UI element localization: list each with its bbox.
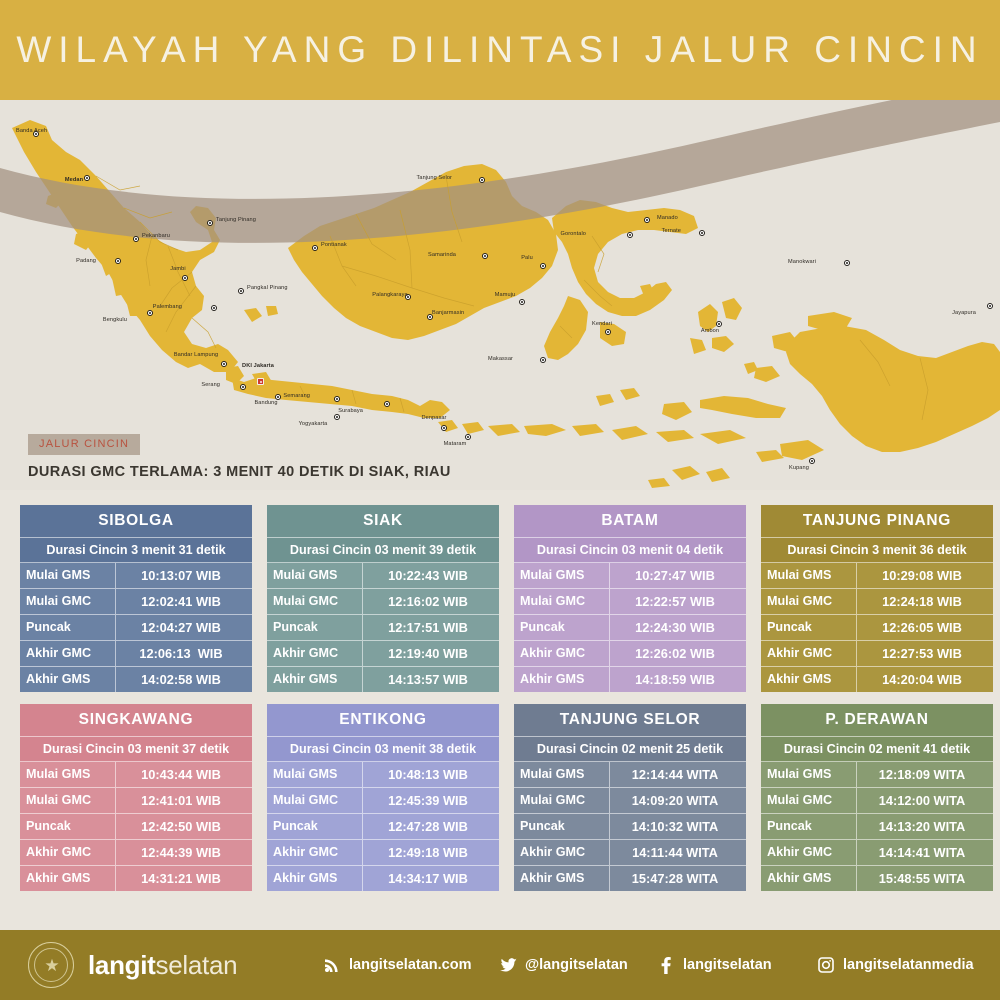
map-label-bengkulu: Bengkulu [103,317,127,323]
card-row-label: Akhir GMS [761,866,857,891]
map-label-surabaya: Surabaya [338,408,363,414]
map-label-pangkal-pinang: Pangkal Pinang [247,285,288,291]
card-row: Puncak12:17:51 WIB [267,615,499,641]
map-marker-jambi [182,275,188,281]
card-row-value: 14:12:00 WITA [857,788,993,813]
map-label-gorontalo: Gorontalo [561,231,586,237]
infographic-page: WILAYAH YANG DILINTASI JALUR CINCIN [0,0,1000,1000]
card-row-label: Puncak [267,814,363,839]
map-marker-surabaya [384,401,390,407]
card-row-label: Akhir GMS [267,866,363,891]
card-row: Puncak14:13:20 WITA [761,814,993,840]
card-row: Puncak12:26:05 WIB [761,615,993,641]
card-row: Mulai GMS12:18:09 WITA [761,762,993,788]
card-row: Akhir GMC12:26:02 WIB [514,641,746,667]
map-label-kupang: Kupang [789,465,809,471]
map-label-bandar-lampung: Bandar Lampung [174,352,218,358]
card-row: Mulai GMC12:22:57 WIB [514,589,746,615]
card-row: Akhir GMC14:14:41 WITA [761,840,993,866]
card-row-value: 12:26:05 WIB [857,615,993,640]
card-row: Akhir GMS14:31:21 WIB [20,866,252,891]
footer-link-twitter[interactable]: @langitselatan [498,955,628,975]
card-row: Mulai GMC12:02:41 WIB [20,589,252,615]
card-row: Akhir GMS14:13:57 WIB [267,667,499,692]
card-row-value: 15:48:55 WITA [857,866,993,891]
card-row-value: 12:24:18 WIB [857,589,993,614]
map-marker-tanjung-selor [479,177,485,183]
map-marker-gorontalo [627,232,633,238]
timing-card-batam: BATAMDurasi Cincin 03 menit 04 detikMula… [514,505,746,692]
card-row: Mulai GMC12:41:01 WIB [20,788,252,814]
timing-card-siak: SIAKDurasi Cincin 03 menit 39 detikMulai… [267,505,499,692]
card-row-label: Akhir GMC [20,641,116,666]
card-row-value: 14:09:20 WITA [610,788,746,813]
footer-link-instagram[interactable]: langitselatanmedia [816,955,974,975]
card-row-value: 10:13:07 WIB [116,563,252,588]
map-marker-medan [84,175,90,181]
card-row: Akhir GMS15:48:55 WITA [761,866,993,891]
card-row-label: Mulai GMS [761,762,857,787]
card-row: Puncak14:10:32 WITA [514,814,746,840]
card-row-value: 10:43:44 WIB [116,762,252,787]
card-duration-entikong: Durasi Cincin 03 menit 38 detik [267,737,499,762]
map-label-palembang: Palembang [153,304,182,310]
map-label-palu: Palu [521,255,533,261]
map-label-banjarmasin: Banjarmasin [432,310,464,316]
card-duration-batam: Durasi Cincin 03 menit 04 detik [514,538,746,563]
legend-jalur-cincin: JALUR CINCIN [28,434,140,455]
instagram-icon [816,955,836,975]
map-marker-semarang [334,396,340,402]
timing-card-tanjung-pinang: TANJUNG PINANGDurasi Cincin 3 menit 36 d… [761,505,993,692]
map-label-palangkaraya: Palangkaraya [372,292,407,298]
card-row: Akhir GMS14:20:04 WIB [761,667,993,692]
card-row: Mulai GMS10:13:07 WIB [20,563,252,589]
eclipse-path-band [0,100,1000,243]
footer-link-instagram-label: langitselatanmedia [843,957,974,973]
card-row-value: 14:11:44 WITA [610,840,746,865]
map-label-padang: Padang [76,258,96,264]
map-marker-manado [644,217,650,223]
card-row-value: 12:42:50 WIB [116,814,252,839]
timing-card-singkawang: SINGKAWANGDurasi Cincin 03 menit 37 deti… [20,704,252,891]
card-row: Akhir GMS14:34:17 WIB [267,866,499,891]
card-row-label: Akhir GMC [20,840,116,865]
map-marker-pontianak [312,245,318,251]
map-label-denpasar: Denpasar [421,415,446,421]
card-row-value: 15:47:28 WITA [610,866,746,891]
card-row-value: 12:22:57 WIB [610,589,746,614]
card-row-value: 14:13:20 WITA [857,814,993,839]
card-row-value: 12:06:13 WIB [116,641,252,666]
card-duration-p-derawan: Durasi Cincin 02 menit 41 detik [761,737,993,762]
card-duration-siak: Durasi Cincin 03 menit 39 detik [267,538,499,563]
card-row: Mulai GMS12:14:44 WITA [514,762,746,788]
card-title-sibolga: SIBOLGA [20,505,252,538]
card-row-label: Puncak [20,615,116,640]
map-label-ambon: Ambon [701,328,719,334]
card-row-value: 10:29:08 WIB [857,563,993,588]
map-label-yogyakarta: Yogyakarta [299,421,328,427]
map-marker-denpasar [441,425,447,431]
map-label-banda-aceh: Banda Aceh [16,128,47,134]
card-title-batam: BATAM [514,505,746,538]
card-title-tanjung-selor: TANJUNG SELOR [514,704,746,737]
map-label-serang: Serang [201,382,220,388]
card-row-value: 12:17:51 WIB [363,615,499,640]
card-row-label: Akhir GMC [514,840,610,865]
card-row: Puncak12:04:27 WIB [20,615,252,641]
footer-link-website-label: langitselatan.com [349,957,471,973]
brand-block: ★ langitselatan [28,942,237,988]
card-row: Mulai GMS10:29:08 WIB [761,563,993,589]
card-title-entikong: ENTIKONG [267,704,499,737]
card-row-label: Akhir GMS [20,667,116,692]
card-row-value: 14:13:57 WIB [363,667,499,692]
map-marker-kupang [809,458,815,464]
card-duration-tanjung-selor: Durasi Cincin 02 menit 25 detik [514,737,746,762]
map-marker-bengkulu [147,310,153,316]
map-marker-makassar [540,357,546,363]
map-label-pontianak: Pontianak [321,242,347,248]
card-row-value: 12:19:40 WIB [363,641,499,666]
map-label-mataram: Mataram [444,441,467,447]
card-row-value: 14:10:32 WITA [610,814,746,839]
card-row-label: Mulai GMS [20,563,116,588]
card-row: Akhir GMS14:18:59 WIB [514,667,746,692]
card-duration-singkawang: Durasi Cincin 03 menit 37 detik [20,737,252,762]
brand-wordmark: langitselatan [88,950,237,981]
card-row-value: 14:14:41 WITA [857,840,993,865]
map-label-pekanbaru: Pekanbaru [142,233,170,239]
card-row-label: Puncak [761,615,857,640]
map-label-manokwari: Manokwari [788,259,816,265]
card-row: Akhir GMC14:11:44 WITA [514,840,746,866]
card-row: Mulai GMS10:27:47 WIB [514,563,746,589]
card-row: Puncak12:42:50 WIB [20,814,252,840]
card-row-value: 12:47:28 WIB [363,814,499,839]
card-row-value: 12:27:53 WIB [857,641,993,666]
map-marker-jayapura [987,303,993,309]
card-duration-sibolga: Durasi Cincin 3 menit 31 detik [20,538,252,563]
card-duration-tanjung-pinang: Durasi Cincin 3 menit 36 detik [761,538,993,563]
map-marker-mamuju [519,299,525,305]
map-marker-dki-jakarta [257,378,264,385]
card-row: Puncak12:47:28 WIB [267,814,499,840]
card-row: Akhir GMC12:44:39 WIB [20,840,252,866]
card-row-label: Puncak [20,814,116,839]
card-row-label: Akhir GMC [761,641,857,666]
map-marker-samarinda [482,253,488,259]
card-row-label: Mulai GMC [20,589,116,614]
card-row-label: Akhir GMC [267,641,363,666]
card-row-label: Akhir GMS [514,667,610,692]
card-row-value: 14:20:04 WIB [857,667,993,692]
brand-name-light: selatan [156,950,238,980]
card-row-value: 12:04:27 WIB [116,615,252,640]
map-label-tanjung-pinang: Tanjung Pinang [216,217,256,223]
header-banner: WILAYAH YANG DILINTASI JALUR CINCIN [0,0,1000,100]
map-marker-bandar-lampung [221,361,227,367]
map-label-semarang: Semarang [283,393,310,399]
brand-name-bold: langit [88,950,156,980]
map-marker-ternate [699,230,705,236]
card-title-singkawang: SINGKAWANG [20,704,252,737]
card-row-label: Puncak [761,814,857,839]
card-row-value: 12:16:02 WIB [363,589,499,614]
map-marker-kendari [605,329,611,335]
map-marker-padang [115,258,121,264]
map-label-ternate: Ternate [662,228,681,234]
card-row-value: 14:31:21 WIB [116,866,252,891]
map-label-manado: Manado [657,215,678,221]
map-label-medan: Medan [65,177,83,183]
card-row-label: Puncak [514,814,610,839]
card-row-value: 10:22:43 WIB [363,563,499,588]
rss-icon [322,955,342,975]
card-row: Mulai GMS10:48:13 WIB [267,762,499,788]
card-row-label: Mulai GMS [267,563,363,588]
card-row-value: 10:48:13 WIB [363,762,499,787]
card-row-label: Mulai GMC [267,788,363,813]
page-title: WILAYAH YANG DILINTASI JALUR CINCIN [16,29,983,71]
map-marker-palu [540,263,546,269]
card-row: Akhir GMC12:27:53 WIB [761,641,993,667]
card-row-value: 12:26:02 WIB [610,641,746,666]
map-caption: DURASI GMC TERLAMA: 3 MENIT 40 DETIK DI … [28,464,451,480]
card-row-label: Puncak [514,615,610,640]
card-row: Mulai GMC14:09:20 WITA [514,788,746,814]
card-row-label: Puncak [267,615,363,640]
map-marker-manokwari [844,260,850,266]
card-row-label: Mulai GMC [761,788,857,813]
city-timing-cards: SIBOLGADurasi Cincin 3 menit 31 detikMul… [0,505,1000,891]
card-row-value: 12:44:39 WIB [116,840,252,865]
card-row: Puncak12:24:30 WIB [514,615,746,641]
map-label-makassar: Makassar [488,356,513,362]
map-marker-palembang [211,305,217,311]
map-label-bandung: Bandung [254,400,277,406]
card-row: Akhir GMS14:02:58 WIB [20,667,252,692]
footer-bar: ★ langitselatan langitselatan.com [0,930,1000,1000]
card-row: Akhir GMS15:47:28 WITA [514,866,746,891]
card-row-value: 12:18:09 WITA [857,762,993,787]
card-row-label: Akhir GMC [267,840,363,865]
card-row-value: 14:34:17 WIB [363,866,499,891]
card-row-label: Akhir GMS [761,667,857,692]
card-row-value: 12:49:18 WIB [363,840,499,865]
map-marker-pekanbaru [133,236,139,242]
card-row: Mulai GMS10:43:44 WIB [20,762,252,788]
card-row-label: Mulai GMC [761,589,857,614]
card-row: Akhir GMC12:19:40 WIB [267,641,499,667]
langitselatan-seal-logo: ★ [28,942,74,988]
card-row-label: Akhir GMS [20,866,116,891]
map-label-dki-jakarta: DKI Jakarta [242,363,274,369]
card-row-label: Mulai GMS [514,762,610,787]
map-marker-mataram [465,434,471,440]
card-title-siak: SIAK [267,505,499,538]
card-row-label: Akhir GMS [267,667,363,692]
map-label-kendari: Kendari [592,321,612,327]
card-row-label: Mulai GMC [514,788,610,813]
card-row: Mulai GMS10:22:43 WIB [267,563,499,589]
card-row: Mulai GMC12:16:02 WIB [267,589,499,615]
card-row-label: Akhir GMC [514,641,610,666]
map-marker-pangkal-pinang [238,288,244,294]
card-row: Mulai GMC12:24:18 WIB [761,589,993,615]
card-row: Mulai GMC12:45:39 WIB [267,788,499,814]
card-row: Akhir GMC12:49:18 WIB [267,840,499,866]
card-row-value: 12:41:01 WIB [116,788,252,813]
card-row-value: 12:02:41 WIB [116,589,252,614]
card-row-label: Mulai GMS [514,563,610,588]
card-row-value: 14:18:59 WIB [610,667,746,692]
card-row-label: Mulai GMC [514,589,610,614]
timing-card-p-derawan: P. DERAWANDurasi Cincin 02 menit 41 deti… [761,704,993,891]
footer-link-facebook[interactable]: langitselatan [656,955,772,975]
card-row-label: Mulai GMS [267,762,363,787]
card-row-value: 12:14:44 WITA [610,762,746,787]
card-row-label: Akhir GMC [761,840,857,865]
card-row-value: 10:27:47 WIB [610,563,746,588]
map-marker-tanjung-pinang [207,220,213,226]
card-row-label: Mulai GMC [267,589,363,614]
facebook-icon [656,955,676,975]
card-row-value: 14:02:58 WIB [116,667,252,692]
card-row-value: 12:45:39 WIB [363,788,499,813]
footer-link-facebook-label: langitselatan [683,957,772,973]
map-label-jambi: Jambi [170,266,185,272]
twitter-icon [498,955,518,975]
map-marker-serang [240,384,246,390]
map-marker-yogyakarta [334,414,340,420]
card-title-tanjung-pinang: TANJUNG PINANG [761,505,993,538]
card-row-value: 12:24:30 WIB [610,615,746,640]
timing-card-entikong: ENTIKONGDurasi Cincin 03 menit 38 detikM… [267,704,499,891]
indonesia-map: Banda AcehMedanTanjung PinangPekanbaruPa… [0,100,1000,490]
timing-card-tanjung-selor: TANJUNG SELORDurasi Cincin 02 menit 25 d… [514,704,746,891]
card-row-label: Mulai GMS [20,762,116,787]
map-label-tanjung-selor: Tanjung Selor [416,175,452,181]
card-title-p-derawan: P. DERAWAN [761,704,993,737]
map-label-samarinda: Samarinda [428,252,456,258]
map-label-mamuju: Mamuju [495,292,516,298]
timing-card-sibolga: SIBOLGADurasi Cincin 3 menit 31 detikMul… [20,505,252,692]
footer-link-website[interactable]: langitselatan.com [322,955,471,975]
card-row: Akhir GMC12:06:13 WIB [20,641,252,667]
card-row-label: Mulai GMS [761,563,857,588]
card-row-label: Akhir GMS [514,866,610,891]
card-row-label: Mulai GMC [20,788,116,813]
card-row: Mulai GMC14:12:00 WITA [761,788,993,814]
footer-link-twitter-label: @langitselatan [525,957,628,973]
map-label-jayapura: Jayapura [952,310,976,316]
map-marker-ambon [716,321,722,327]
